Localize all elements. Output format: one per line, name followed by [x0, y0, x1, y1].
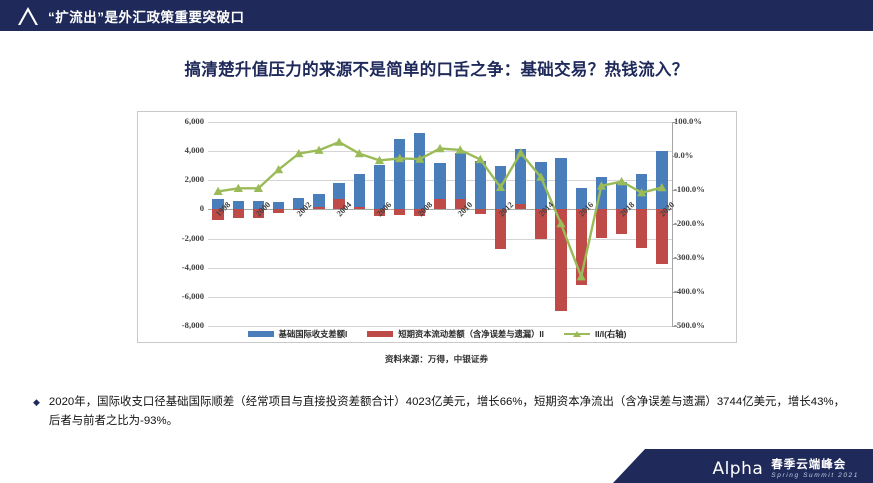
legend-swatch-blue — [248, 331, 274, 337]
page-title: 搞清楚升值压力的来源不是简单的口舌之争：基础交易？热钱流入？ — [0, 56, 873, 80]
x-axis-tick-label: 1998 — [214, 201, 232, 219]
right-axis-tick-label: 0.0% — [674, 150, 744, 160]
left-axis-tick-label: -2,000 — [134, 233, 204, 243]
right-axis-tick — [672, 190, 677, 191]
right-axis-tick-label: -100.0% — [674, 184, 744, 194]
footer-brand-cn-group: 春季云端峰会 Spring Summit 2021 — [771, 456, 859, 479]
right-axis-tick — [672, 224, 677, 225]
x-axis-tick-label: 2010 — [456, 201, 474, 219]
legend-item-base-balance: 基础国际收支差额I — [248, 328, 348, 340]
right-axis-tick-label: -200.0% — [674, 218, 744, 228]
x-axis-tick-label: 2000 — [254, 201, 272, 219]
footer-brand-alpha: Alpha — [712, 459, 763, 479]
legend-item-ratio: II/I(右轴) — [564, 328, 626, 340]
chart-legend: 基础国际收支差额I 短期资本流动差额（含净误差与遗漏）II II/I(右轴) — [137, 325, 737, 343]
left-axis-tick-label: -6,000 — [134, 291, 204, 301]
x-axis-tick-label: 2020 — [658, 201, 676, 219]
x-axis-tick-label: 2014 — [537, 201, 555, 219]
right-axis-tick — [672, 122, 677, 123]
bullet-marker-icon: ◆ — [33, 393, 40, 411]
legend-label-base-balance: 基础国际收支差额I — [279, 328, 348, 340]
bullet-text: 2020年，国际收支口径基础国际顺差（经常项目与直接投资差额合计）4023亿美元… — [49, 393, 845, 431]
legend-swatch-green-line — [564, 329, 590, 339]
left-axis-tick-label: 6,000 — [134, 116, 204, 126]
header-title: “扩流出”是外汇政策重要突破口 — [48, 6, 245, 26]
legend-label-ratio: II/I(右轴) — [595, 328, 626, 340]
x-axis-tick-label: 2018 — [618, 201, 636, 219]
chart-panel: 6,0004,0002,0000-2,000-4,000-6,000-8,000… — [137, 111, 737, 343]
x-axis-labels: 1998200020022004200620082010201220142016… — [208, 122, 672, 326]
left-axis-tick-label: -4,000 — [134, 262, 204, 272]
footer-brand-cn: 春季云端峰会 — [771, 456, 846, 472]
chart-source-note: 资料来源：万得，中银证券 — [0, 353, 873, 365]
legend-item-short-term-flow: 短期资本流动差额（含净误差与遗漏）II — [367, 328, 544, 340]
footer-brand-sub: Spring Summit 2021 — [771, 472, 859, 479]
header-bar: “扩流出”是外汇政策重要突破口 — [0, 0, 873, 31]
legend-label-short-term-flow: 短期资本流动差额（含净误差与遗漏）II — [398, 328, 544, 340]
x-axis-tick-label: 2016 — [577, 201, 595, 219]
left-axis-tick-label: 2,000 — [134, 174, 204, 184]
right-axis-tick — [672, 156, 677, 157]
legend-swatch-red — [367, 331, 393, 337]
triangle-a-icon — [17, 6, 39, 26]
x-axis-tick-label: 2002 — [295, 201, 313, 219]
left-axis-tick-label: 0 — [134, 203, 204, 213]
right-axis-tick-label: 100.0% — [674, 116, 744, 126]
bullet-block: ◆ 2020年，国际收支口径基础国际顺差（经常项目与直接投资差额合计）4023亿… — [33, 393, 845, 431]
x-axis-tick-label: 2004 — [335, 201, 353, 219]
chart-canvas: 6,0004,0002,0000-2,000-4,000-6,000-8,000… — [138, 112, 738, 344]
right-axis-tick-label: -400.0% — [674, 286, 744, 296]
x-axis-tick-label: 2012 — [497, 201, 515, 219]
right-axis-tick — [672, 258, 677, 259]
footer: Alpha 春季云端峰会 Spring Summit 2021 — [0, 449, 873, 483]
footer-brand: Alpha 春季云端峰会 Spring Summit 2021 — [712, 456, 859, 479]
left-axis-tick-label: 4,000 — [134, 145, 204, 155]
right-axis-tick-label: -300.0% — [674, 252, 744, 262]
x-axis-tick-label: 2006 — [375, 201, 393, 219]
x-axis-tick-label: 2008 — [416, 201, 434, 219]
right-axis-tick — [672, 292, 677, 293]
